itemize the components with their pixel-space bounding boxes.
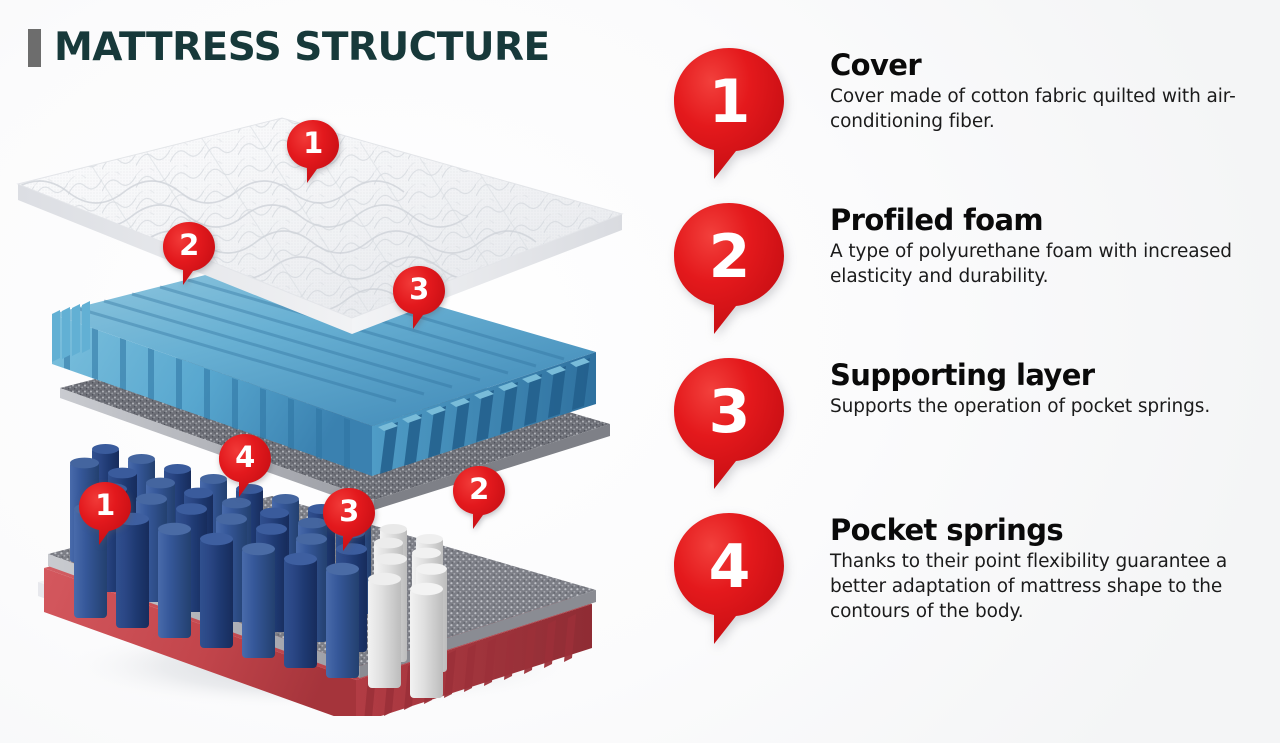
- legend-pin-4[interactable]: 4: [672, 511, 786, 647]
- legend-description: Cover made of cotton fabric quilted with…: [830, 85, 1260, 134]
- legend-title: Profiled foam: [830, 205, 1260, 236]
- legend-item-pocket-springs[interactable]: 4 Pocket springs Thanks to their point f…: [666, 509, 1266, 664]
- illustration-marker-4-pocket-springs[interactable]: 4: [218, 433, 272, 499]
- illustration-marker-1-cover[interactable]: 1: [286, 119, 340, 185]
- legend-text-block: Profiled foam A type of polyurethane foa…: [830, 205, 1260, 290]
- legend-list: 1 Cover Cover made of cotton fabric quil…: [666, 44, 1266, 664]
- title-accent-bar: [28, 29, 41, 67]
- legend-title: Supporting layer: [830, 360, 1260, 391]
- legend-item-profiled-foam[interactable]: 2 Profiled foam A type of polyurethane f…: [666, 199, 1266, 354]
- legend-item-cover[interactable]: 1 Cover Cover made of cotton fabric quil…: [666, 44, 1266, 199]
- legend-text-block: Pocket springs Thanks to their point fle…: [830, 515, 1260, 624]
- legend-pin-3[interactable]: 3: [672, 356, 786, 492]
- page-title-text: MATTRESS STRUCTURE: [54, 28, 550, 67]
- legend-text-block: Cover Cover made of cotton fabric quilte…: [830, 50, 1260, 135]
- illustration-marker-2-foam-right[interactable]: 2: [452, 465, 506, 531]
- infographic-root: MATTRESS STRUCTURE: [0, 0, 1280, 743]
- legend-title: Cover: [830, 50, 1260, 81]
- illustration-marker-3-felt-lower[interactable]: 3: [322, 487, 376, 553]
- illustration-marker-2-profiled-foam[interactable]: 2: [162, 221, 216, 287]
- legend-description: Supports the operation of pocket springs…: [830, 395, 1260, 420]
- legend-pin-2[interactable]: 2: [672, 201, 786, 337]
- legend-title: Pocket springs: [830, 515, 1260, 546]
- legend-pin-1[interactable]: 1: [672, 46, 786, 182]
- legend-description: A type of polyurethane foam with increas…: [830, 240, 1260, 289]
- legend-text-block: Supporting layer Supports the operation …: [830, 360, 1260, 420]
- legend-item-supporting-layer[interactable]: 3 Supporting layer Supports the operatio…: [666, 354, 1266, 509]
- illustration-marker-3-felt-upper[interactable]: 3: [392, 265, 446, 331]
- legend-description: Thanks to their point flexibility guaran…: [830, 550, 1260, 624]
- illustration-marker-1-foam-base[interactable]: 1: [78, 481, 132, 547]
- mattress-illustration: 1 2 3 4 3: [0, 96, 640, 716]
- page-title: MATTRESS STRUCTURE: [28, 28, 550, 67]
